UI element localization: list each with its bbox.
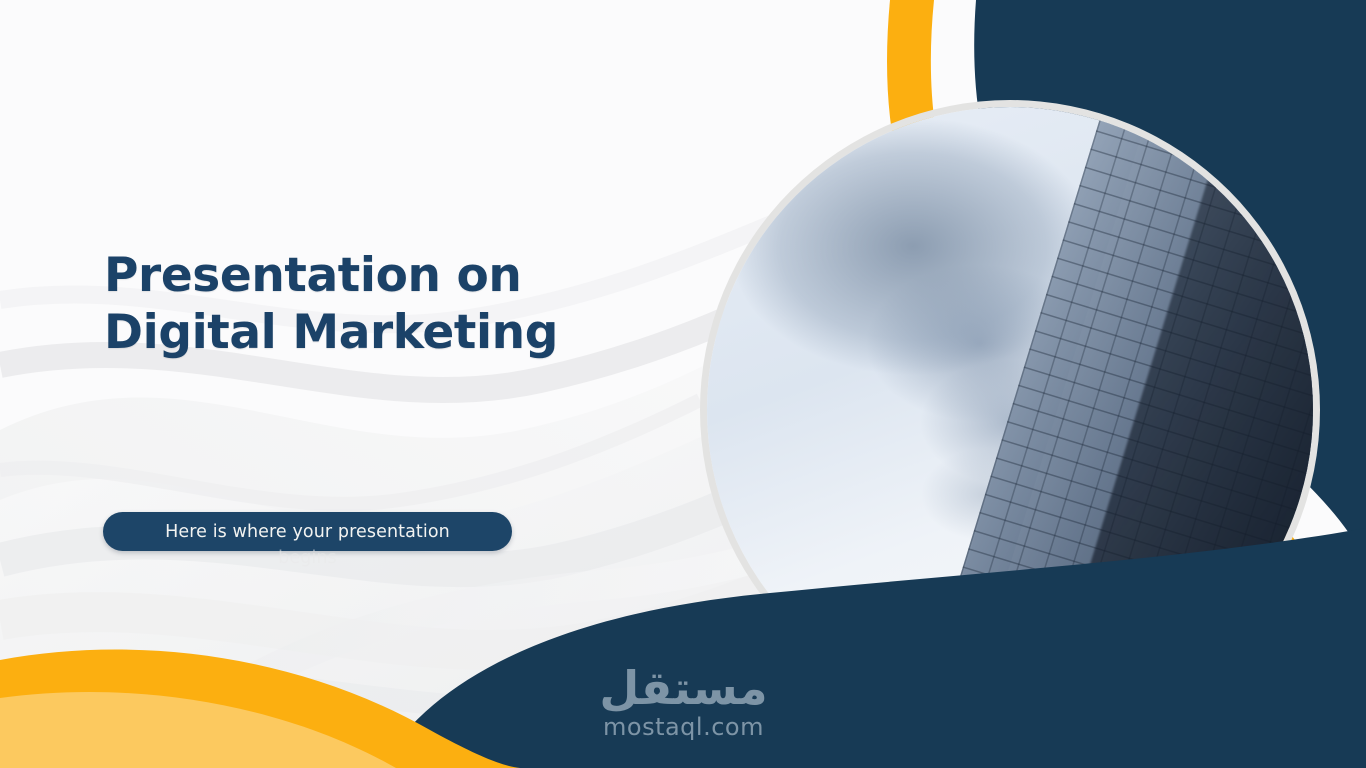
- subtitle-text: Here is where your presentation begins: [103, 512, 512, 571]
- watermark-arabic-logo: مستقل: [566, 663, 801, 713]
- subtitle-line-2: begins: [103, 545, 512, 571]
- watermark-domain: mostaql.com: [566, 713, 801, 741]
- page-title: Presentation on Digital Marketing: [104, 247, 664, 362]
- orange-corner-arcs: [0, 598, 560, 768]
- presentation-slide: Presentation on Digital Marketing Here i…: [0, 0, 1366, 768]
- mostaql-watermark: مستقل mostaql.com: [566, 663, 801, 741]
- subtitle-line-1: Here is where your presentation: [165, 522, 450, 542]
